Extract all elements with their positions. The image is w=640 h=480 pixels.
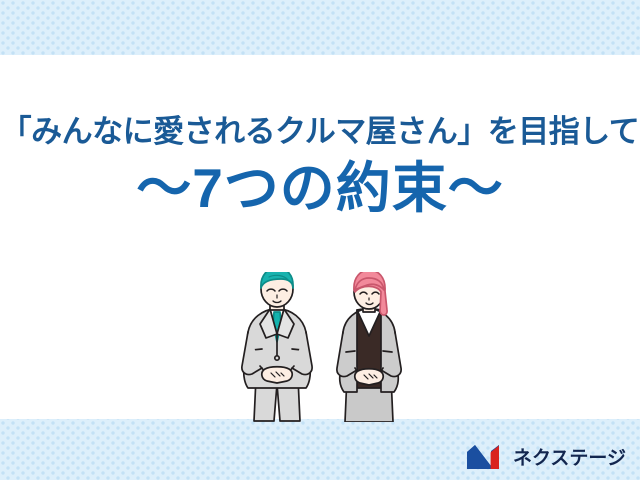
- nextage-logo-lockup: ネクステージ: [466, 443, 626, 470]
- promo-banner: 「みんなに愛されるクルマ屋さん」を目指して 〜7つの約束〜: [0, 0, 640, 480]
- headline-line-1: 「みんなに愛されるクルマ屋さん」を目指して: [0, 116, 640, 147]
- nextage-n-logo-icon: [466, 444, 506, 470]
- female-staff-figure: [337, 272, 401, 422]
- male-staff-figure: [242, 272, 312, 421]
- nextage-wordmark: ネクステージ: [513, 443, 626, 470]
- two-staff-bowing-illustration: [236, 272, 414, 422]
- headline-block: 「みんなに愛されるクルマ屋さん」を目指して 〜7つの約束〜: [0, 116, 640, 216]
- headline-line-2: 〜7つの約束〜: [0, 161, 640, 216]
